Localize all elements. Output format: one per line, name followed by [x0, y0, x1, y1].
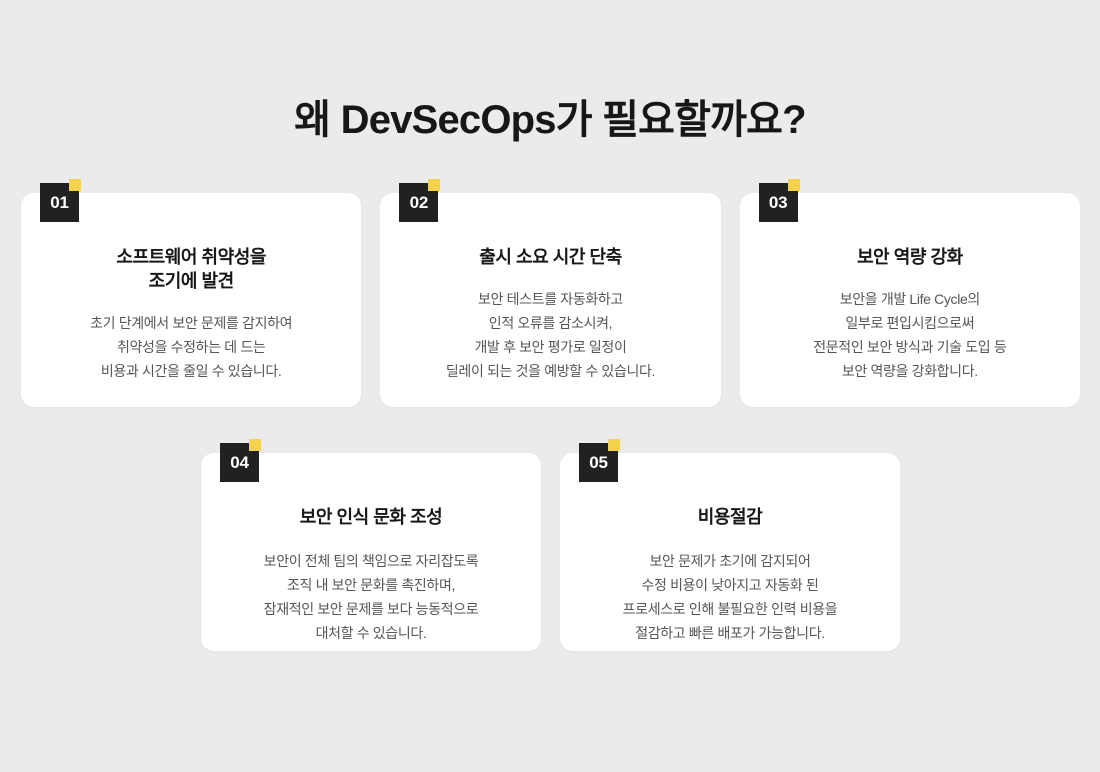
benefit-card-01: 01 소프트웨어 취약성을 조기에 발견 초기 단계에서 보안 문제를 감지하여… — [21, 193, 361, 407]
card-number-badge: 05 — [579, 443, 618, 482]
accent-square-icon — [608, 439, 620, 451]
accent-square-icon — [69, 179, 81, 191]
card-body: 보안 테스트를 자동화하고 인적 오류를 감소시켜, 개발 후 보안 평가로 일… — [400, 287, 700, 383]
card-title: 소프트웨어 취약성을 조기에 발견 — [41, 245, 341, 293]
card-number-label: 03 — [769, 193, 788, 212]
benefit-card-02: 02 출시 소요 시간 단축 보안 테스트를 자동화하고 인적 오류를 감소시켜… — [380, 193, 720, 407]
card-row-top: 01 소프트웨어 취약성을 조기에 발견 초기 단계에서 보안 문제를 감지하여… — [21, 193, 1080, 407]
card-number-badge: 04 — [220, 443, 259, 482]
benefit-card-04: 04 보안 인식 문화 조성 보안이 전체 팀의 책임으로 자리잡도록 조직 내… — [201, 453, 541, 651]
card-number-label: 02 — [410, 193, 429, 212]
card-title: 비용절감 — [580, 505, 880, 529]
card-title: 보안 인식 문화 조성 — [221, 505, 521, 529]
card-title: 출시 소요 시간 단축 — [400, 245, 700, 269]
accent-square-icon — [788, 179, 800, 191]
card-number-badge: 02 — [399, 183, 438, 222]
benefit-card-05: 05 비용절감 보안 문제가 초기에 감지되어 수정 비용이 낮아지고 자동화 … — [560, 453, 900, 651]
card-body: 보안 문제가 초기에 감지되어 수정 비용이 낮아지고 자동화 된 프로세스로 … — [580, 549, 880, 645]
card-number-label: 04 — [230, 453, 249, 472]
card-row-bottom: 04 보안 인식 문화 조성 보안이 전체 팀의 책임으로 자리잡도록 조직 내… — [201, 453, 900, 651]
card-number-badge: 03 — [759, 183, 798, 222]
accent-square-icon — [428, 179, 440, 191]
card-body: 보안을 개발 Life Cycle의 일부로 편입시킴으로써 전문적인 보안 방… — [760, 287, 1060, 383]
card-body: 초기 단계에서 보안 문제를 감지하여 취약성을 수정하는 데 드는 비용과 시… — [41, 311, 341, 383]
devsecops-benefits-page: 왜 DevSecOps가 필요할까요? 01 소프트웨어 취약성을 조기에 발견… — [0, 0, 1100, 772]
card-number-label: 01 — [50, 193, 69, 212]
benefit-card-03: 03 보안 역량 강화 보안을 개발 Life Cycle의 일부로 편입시킴으… — [740, 193, 1080, 407]
card-number-badge: 01 — [40, 183, 79, 222]
page-title: 왜 DevSecOps가 필요할까요? — [0, 96, 1100, 144]
accent-square-icon — [249, 439, 261, 451]
card-title: 보안 역량 강화 — [760, 245, 1060, 269]
card-body: 보안이 전체 팀의 책임으로 자리잡도록 조직 내 보안 문화를 촉진하며, 잠… — [221, 549, 521, 645]
card-number-label: 05 — [589, 453, 608, 472]
